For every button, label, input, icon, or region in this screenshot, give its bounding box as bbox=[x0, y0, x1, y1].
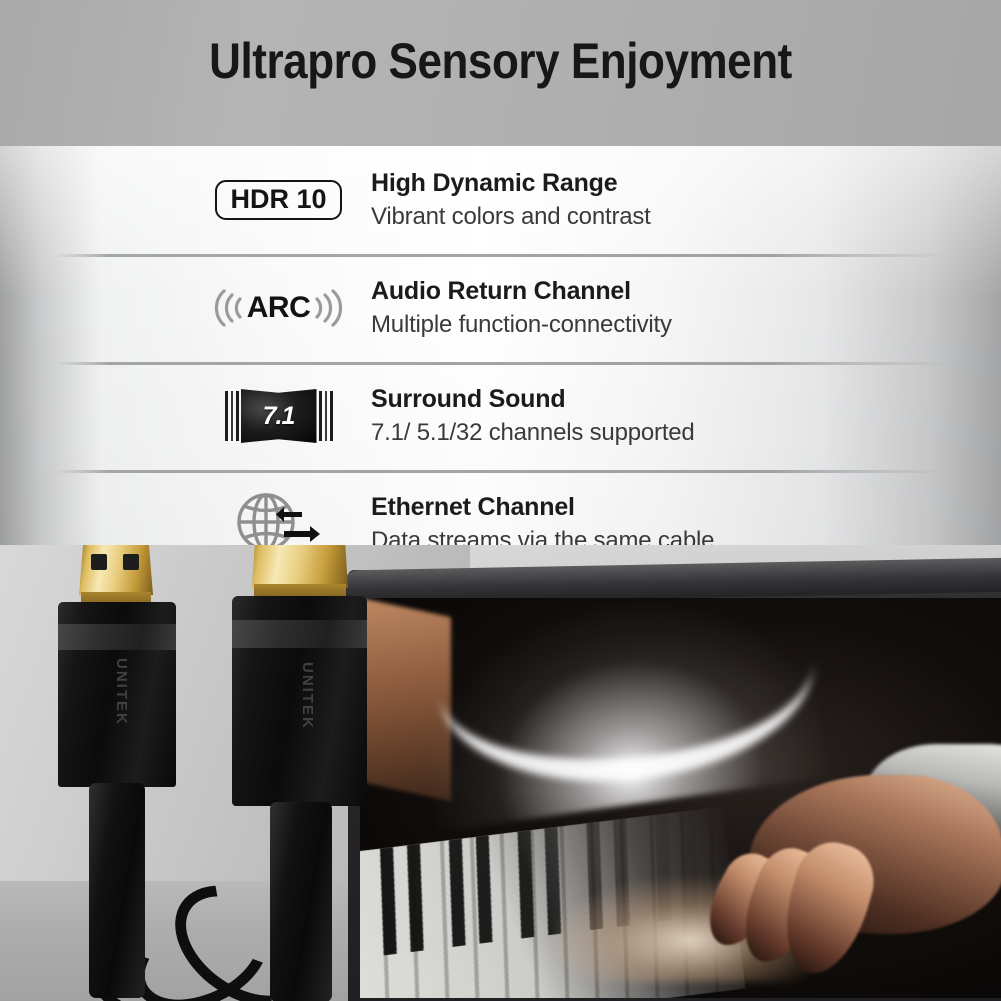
hdmi-housing: UNITEK bbox=[232, 596, 367, 806]
feature-text-hdr: High Dynamic Range Vibrant colors and co… bbox=[371, 146, 651, 254]
product-photo: UNITEK UNITEK bbox=[0, 545, 1001, 1001]
feature-row-surround: 7.1 Surround Sound 7.1/ 5.1/32 channels … bbox=[0, 362, 1001, 470]
hdr10-badge-icon: HDR 10 bbox=[196, 146, 361, 254]
cable-left bbox=[89, 783, 145, 998]
hdr10-badge-label: HDR 10 bbox=[215, 180, 341, 220]
surround-label: 7.1 bbox=[263, 402, 295, 431]
arc-waves-right-icon bbox=[313, 286, 343, 330]
feature-list: HDR 10 High Dynamic Range Vibrant colors… bbox=[0, 146, 1001, 578]
feature-text-arc: Audio Return Channel Multiple function-c… bbox=[371, 254, 672, 362]
feature-title: Audio Return Channel bbox=[371, 276, 672, 307]
feature-subtitle: Multiple function-connectivity bbox=[371, 309, 672, 340]
feature-subtitle: Vibrant colors and contrast bbox=[371, 201, 651, 232]
brand-label-right: UNITEK bbox=[299, 662, 316, 730]
feature-row-arc: ARC Audio Return Channel Multiple functi… bbox=[0, 254, 1001, 362]
pianist-hand bbox=[632, 734, 1001, 990]
arc-label: ARC bbox=[247, 291, 311, 325]
hdmi-gold-plate bbox=[252, 545, 348, 588]
brand-label-left: UNITEK bbox=[113, 658, 130, 726]
tv-display bbox=[348, 570, 1001, 1001]
hdmi-connector: UNITEK bbox=[226, 545, 371, 1000]
feature-panel: HDR 10 High Dynamic Range Vibrant colors… bbox=[0, 146, 1001, 578]
mini-hdmi-housing: UNITEK bbox=[58, 602, 176, 787]
piano-scene bbox=[360, 598, 1001, 998]
feature-subtitle: 7.1/ 5.1/32 channels supported bbox=[371, 417, 695, 448]
feature-text-surround: Surround Sound 7.1/ 5.1/32 channels supp… bbox=[371, 362, 695, 470]
surround-bars-left-icon bbox=[225, 391, 239, 441]
mini-hdmi-connector: UNITEK bbox=[48, 545, 183, 1000]
feature-title: Surround Sound bbox=[371, 384, 695, 415]
product-infographic: Ultrapro Sensory Enjoyment HDR 10 High D… bbox=[0, 0, 1001, 1001]
surround-bars-right-icon bbox=[319, 391, 333, 441]
feature-title: Ethernet Channel bbox=[371, 492, 714, 523]
feature-row-hdr: HDR 10 High Dynamic Range Vibrant colors… bbox=[0, 146, 1001, 254]
cable-right bbox=[270, 802, 332, 1001]
mini-hdmi-gold-plate bbox=[79, 545, 153, 595]
tv-screen bbox=[360, 598, 1001, 998]
surround-banner-icon: 7.1 bbox=[196, 362, 361, 470]
arc-waves-icon: ARC bbox=[196, 254, 361, 362]
exchange-arrows-icon bbox=[276, 505, 330, 549]
feature-title: High Dynamic Range bbox=[371, 168, 651, 199]
page-title: Ultrapro Sensory Enjoyment bbox=[60, 32, 941, 90]
arc-waves-left-icon bbox=[214, 286, 244, 330]
